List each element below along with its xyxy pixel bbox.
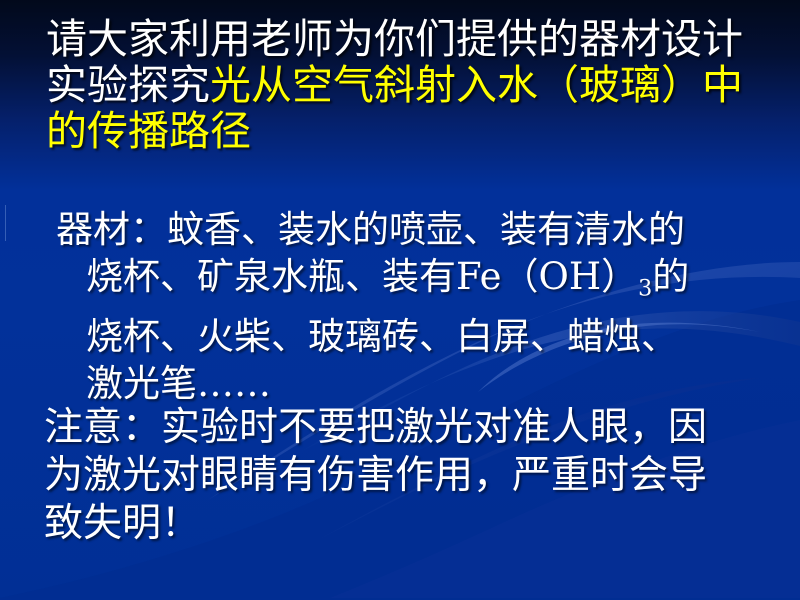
title-line-1-text: 请大家利用老师为你们提供的器材设计 xyxy=(46,15,743,63)
title-line-3-highlight-text: 的传播路径 xyxy=(46,107,251,155)
equipment-line-3: 烧杯、火柴、玻璃砖、白屏、蜡烛、 xyxy=(46,313,766,360)
equipment-line-2-suffix: 的 xyxy=(652,255,689,298)
equipment-line-4: 激光笔…… xyxy=(46,360,766,407)
equipment-line-2: 烧杯、矿泉水瓶、装有Fe（OH）3的 xyxy=(46,253,766,313)
safety-note-line-1: 注意：实验时不要把激光对准人眼，因 xyxy=(44,404,774,452)
chemical-formula-fe-oh: Fe（OH） xyxy=(456,255,638,298)
left-margin-rule xyxy=(5,205,6,241)
slide-canvas: 请大家利用老师为你们提供的器材设计 实验探究光从空气斜射入水（玻璃）中 的传播路… xyxy=(0,0,800,600)
title-line-2-white-text: 实验探究 xyxy=(46,61,210,109)
title-line-1: 请大家利用老师为你们提供的器材设计 xyxy=(46,16,762,62)
equipment-line-2-prefix: 烧杯、矿泉水瓶、装有 xyxy=(86,255,456,298)
title-line-2: 实验探究光从空气斜射入水（玻璃）中 xyxy=(46,62,762,108)
safety-note-line-3: 致失明！ xyxy=(44,500,774,548)
safety-note: 注意：实验时不要把激光对准人眼，因 为激光对眼睛有伤害作用，严重时会导 致失明！ xyxy=(44,404,774,548)
safety-note-line-2: 为激光对眼睛有伤害作用，严重时会导 xyxy=(44,452,774,500)
chemical-formula-subscript: 3 xyxy=(638,276,652,302)
slide-title: 请大家利用老师为你们提供的器材设计 实验探究光从空气斜射入水（玻璃）中 的传播路… xyxy=(46,16,762,154)
equipment-list: 器材：蚊香、装水的喷壶、装有清水的 烧杯、矿泉水瓶、装有Fe（OH）3的 烧杯、… xyxy=(46,206,766,407)
equipment-line-1: 器材：蚊香、装水的喷壶、装有清水的 xyxy=(46,206,766,253)
title-line-3: 的传播路径 xyxy=(46,108,762,154)
title-line-2-highlight-text: 光从空气斜射入水（玻璃）中 xyxy=(210,61,743,109)
